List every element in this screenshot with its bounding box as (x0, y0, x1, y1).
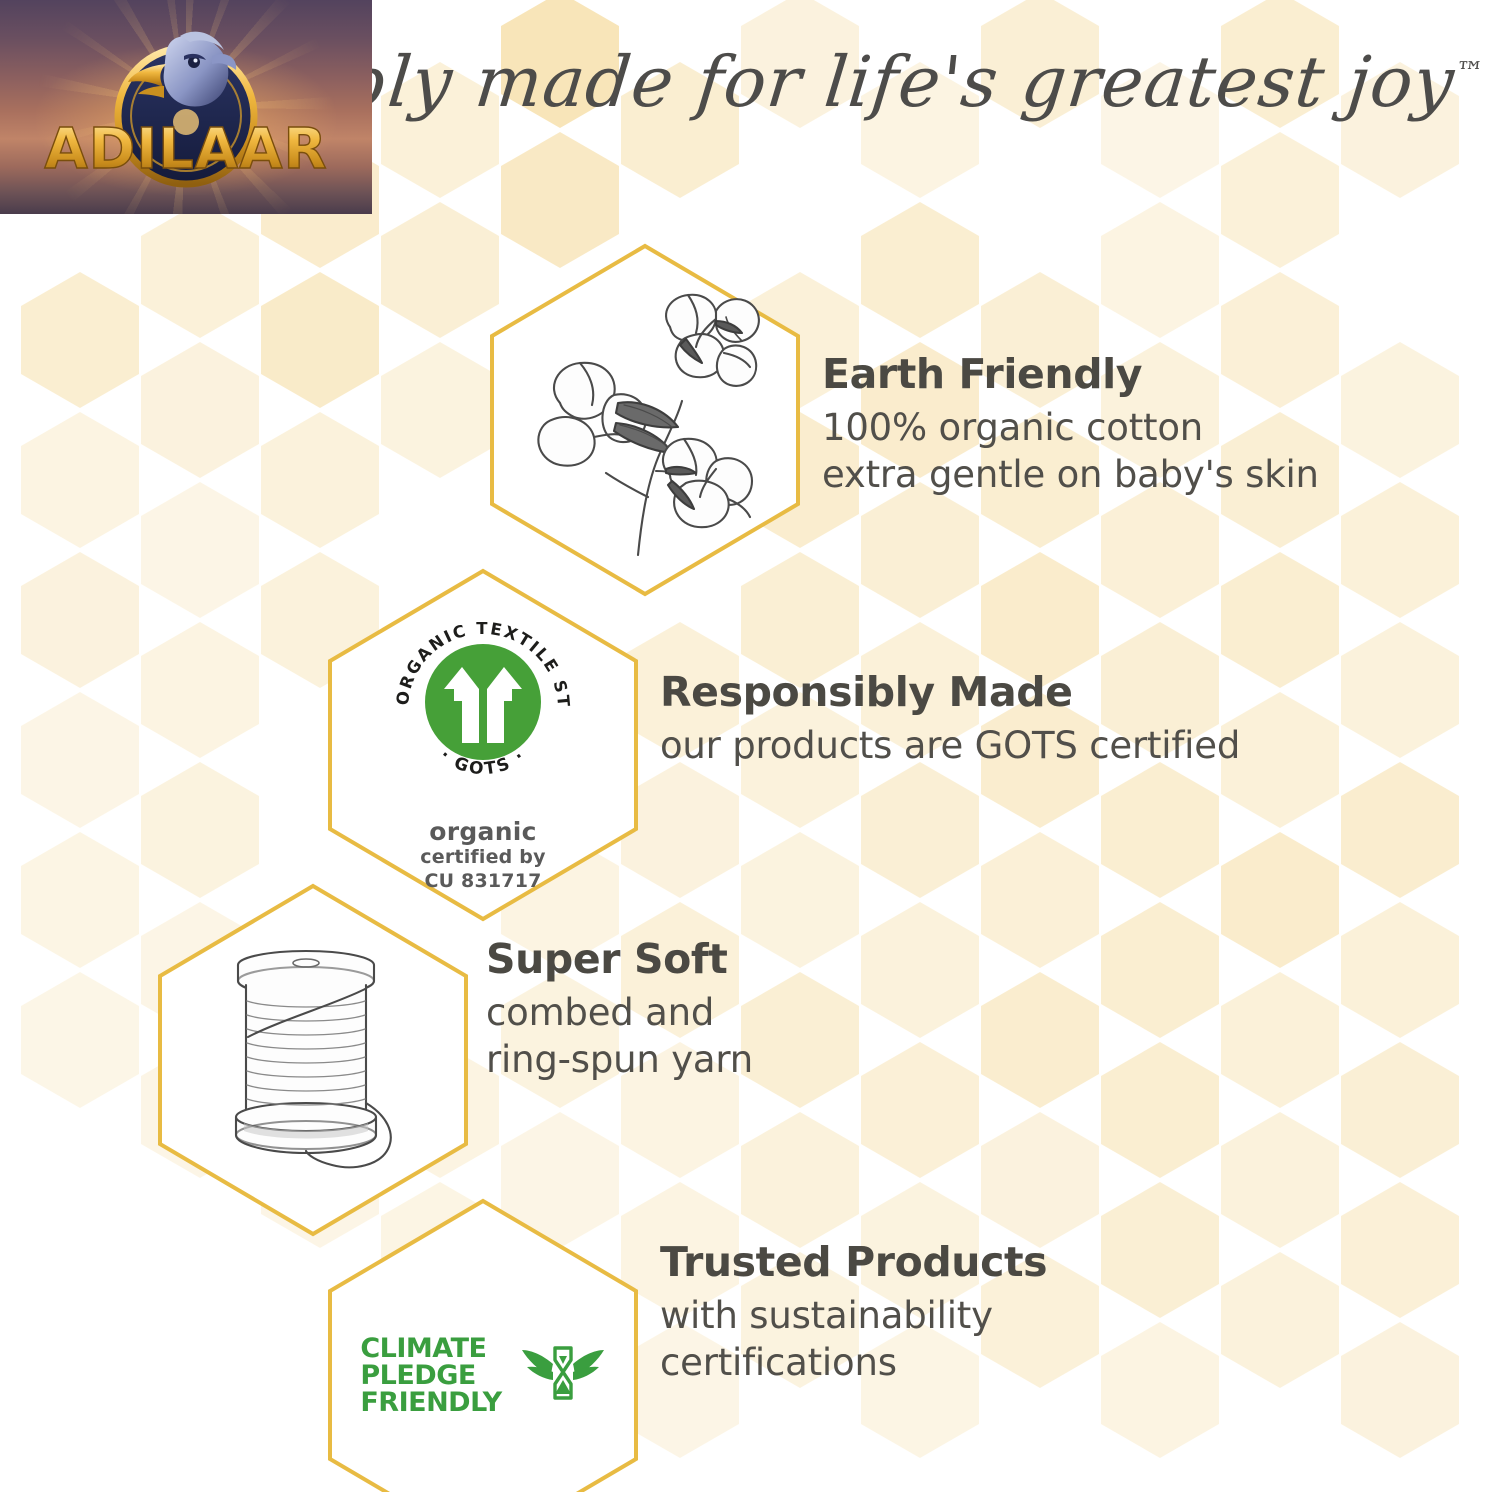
feature-line-1: combed and (486, 989, 1106, 1036)
tagline-text: ably made for life's greatest joy (296, 41, 1459, 123)
logo-artwork: ADILAAR (0, 0, 372, 214)
feature-text-trusted-products: Trusted Products with sustainability cer… (660, 1238, 1300, 1387)
feature-text-earth-friendly: Earth Friendly 100% organic cotton extra… (822, 350, 1442, 499)
cpf-line-1: CLIMATE (360, 1335, 501, 1362)
winged-hourglass-icon (520, 1338, 606, 1412)
logo-wordmark-text: ADILAAR (44, 117, 327, 182)
cotton-plant-sketch-icon (480, 240, 810, 600)
gots-certified-by: certified by (378, 846, 588, 869)
logo-wordmark: ADILAAR (44, 117, 327, 182)
climate-pledge-wordmark: CLIMATE PLEDGE FRIENDLY (360, 1335, 501, 1416)
feature-line-1: 100% organic cotton (822, 404, 1442, 451)
feature-hex-earth-friendly (480, 240, 810, 600)
feature-line-2: ring-spun yarn (486, 1036, 1106, 1083)
feature-heading: Responsibly Made (660, 668, 1420, 716)
feature-line-2: certifications (660, 1339, 1300, 1386)
brand-tagline: ably made for life's greatest joy™ (296, 46, 1434, 120)
feature-hex-super-soft (148, 880, 478, 1240)
feature-line-1: with sustainability (660, 1292, 1300, 1339)
thread-spool-sketch-icon (148, 880, 478, 1240)
trademark-symbol: ™ (1454, 56, 1485, 89)
marketing-infographic: ADILAAR ably made for life's greatest jo… (0, 0, 1500, 1492)
feature-hex-trusted-products: CLIMATE PLEDGE FRIENDLY (318, 1195, 648, 1492)
climate-pledge-friendly-icon: CLIMATE PLEDGE FRIENDLY (318, 1195, 648, 1492)
adilaar-brand-logo: ADILAAR (0, 0, 372, 214)
cpf-line-3: FRIENDLY (360, 1389, 501, 1416)
feature-heading: Earth Friendly (822, 350, 1442, 398)
gots-seal: GLOBAL ORGANIC TEXTILE STANDARD · GOTS · (378, 597, 588, 807)
feature-heading: Super Soft (486, 935, 1106, 983)
gots-organic-certification-icon: GLOBAL ORGANIC TEXTILE STANDARD · GOTS ·… (318, 565, 648, 925)
feature-heading: Trusted Products (660, 1238, 1300, 1286)
gots-organic-label: organic (378, 817, 588, 846)
feature-hex-responsibly-made: GLOBAL ORGANIC TEXTILE STANDARD · GOTS ·… (318, 565, 648, 925)
feature-text-super-soft: Super Soft combed and ring-spun yarn (486, 935, 1106, 1084)
feature-text-responsibly-made: Responsibly Made our products are GOTS c… (660, 668, 1420, 769)
feature-line-1: our products are GOTS certified (660, 722, 1420, 769)
gots-green-circle (425, 644, 541, 760)
cpf-line-2: PLEDGE (360, 1362, 501, 1389)
feature-line-2: extra gentle on baby's skin (822, 451, 1442, 498)
